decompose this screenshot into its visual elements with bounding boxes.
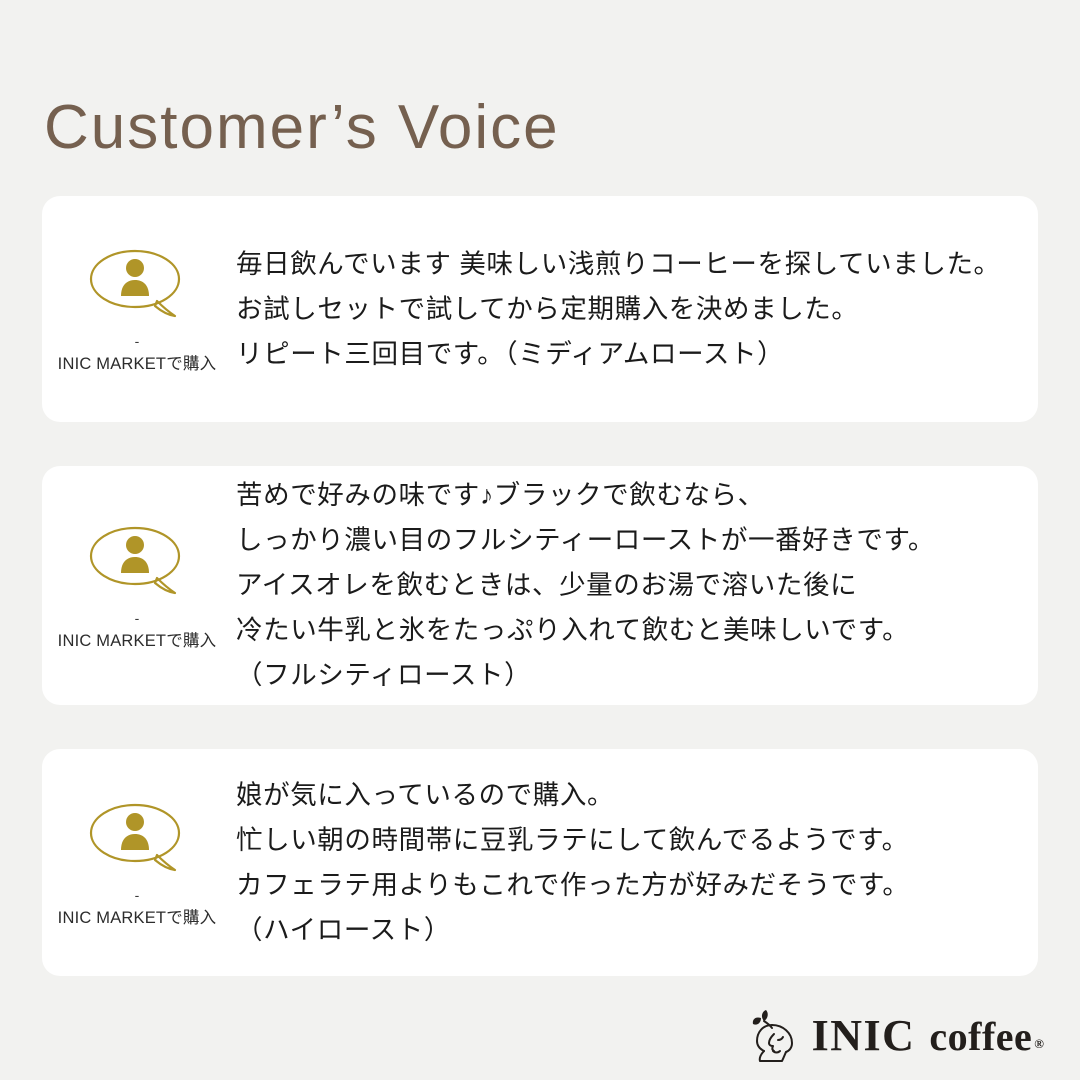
review-line: 娘が気に入っているので購入。 bbox=[236, 773, 1018, 818]
reviewer-source-label: INIC MARKETで購入 bbox=[58, 627, 217, 651]
person-in-speech-bubble-icon bbox=[83, 798, 191, 876]
registered-trademark-icon: ® bbox=[1034, 1036, 1044, 1052]
reviewer-source-label: INIC MARKETで購入 bbox=[58, 350, 217, 374]
review-line: 冷たい牛乳と氷をたっぷり入れて飲むと美味しいです。 bbox=[236, 608, 1018, 653]
review-card: - INIC MARKETで購入 娘が気に入っているので購入。 忙しい朝の時間帯… bbox=[42, 749, 1038, 976]
brand-name-secondary: coffee bbox=[929, 1013, 1032, 1060]
person-in-speech-bubble-icon bbox=[83, 521, 191, 599]
review-text: 毎日飲んでいます 美味しい浅煎りコーヒーを探していました。 お試しセットで試して… bbox=[228, 242, 1038, 377]
inic-coffee-head-logo-icon bbox=[748, 1004, 800, 1066]
review-line: リピート三回目です。（ミディアムロースト） bbox=[236, 332, 1018, 377]
review-card: - INIC MARKETで購入 苦めで好みの味です♪ブラックで飲むなら、 しっ… bbox=[42, 466, 1038, 705]
reviewer-block: - INIC MARKETで購入 bbox=[42, 798, 228, 928]
person-in-speech-bubble-icon bbox=[83, 244, 191, 322]
review-line: しっかり濃い目のフルシティーローストが一番好きです。 bbox=[236, 518, 1018, 563]
reviewer-divider-dash: - bbox=[135, 336, 140, 346]
review-line: カフェラテ用よりもこれで作った方が好みだそうです。 bbox=[236, 863, 1018, 908]
review-line: （ハイロースト） bbox=[236, 908, 1018, 953]
review-line: 苦めで好みの味です♪ブラックで飲むなら、 bbox=[236, 473, 1018, 518]
review-card: - INIC MARKETで購入 毎日飲んでいます 美味しい浅煎りコーヒーを探し… bbox=[42, 196, 1038, 422]
customers-voice-page: Customer’s Voice - INIC MARKETで購入 毎日飲んでい… bbox=[0, 0, 1080, 1080]
review-line: アイスオレを飲むときは、少量のお湯で溶いた後に bbox=[236, 563, 1018, 608]
review-text: 娘が気に入っているので購入。 忙しい朝の時間帯に豆乳ラテにして飲んでるようです。… bbox=[228, 773, 1038, 953]
reviewer-divider-dash: - bbox=[135, 613, 140, 623]
reviewer-source-label: INIC MARKETで購入 bbox=[58, 904, 217, 928]
brand-logo: INIC coffee ® bbox=[748, 1004, 1044, 1066]
review-line: （フルシティロースト） bbox=[236, 653, 1018, 698]
review-text: 苦めで好みの味です♪ブラックで飲むなら、 しっかり濃い目のフルシティーローストが… bbox=[228, 473, 1038, 698]
reviewer-block: - INIC MARKETで購入 bbox=[42, 244, 228, 374]
review-line: お試しセットで試してから定期購入を決めました。 bbox=[236, 287, 1018, 332]
reviewer-block: - INIC MARKETで購入 bbox=[42, 521, 228, 651]
review-line: 忙しい朝の時間帯に豆乳ラテにして飲んでるようです。 bbox=[236, 818, 1018, 863]
review-line: 毎日飲んでいます 美味しい浅煎りコーヒーを探していました。 bbox=[236, 242, 1018, 287]
brand-name-primary: INIC bbox=[812, 1010, 916, 1061]
review-list: - INIC MARKETで購入 毎日飲んでいます 美味しい浅煎りコーヒーを探し… bbox=[42, 196, 1038, 976]
page-title: Customer’s Voice bbox=[44, 94, 560, 162]
brand-wordmark: INIC coffee ® bbox=[812, 1010, 1044, 1061]
reviewer-divider-dash: - bbox=[135, 890, 140, 900]
